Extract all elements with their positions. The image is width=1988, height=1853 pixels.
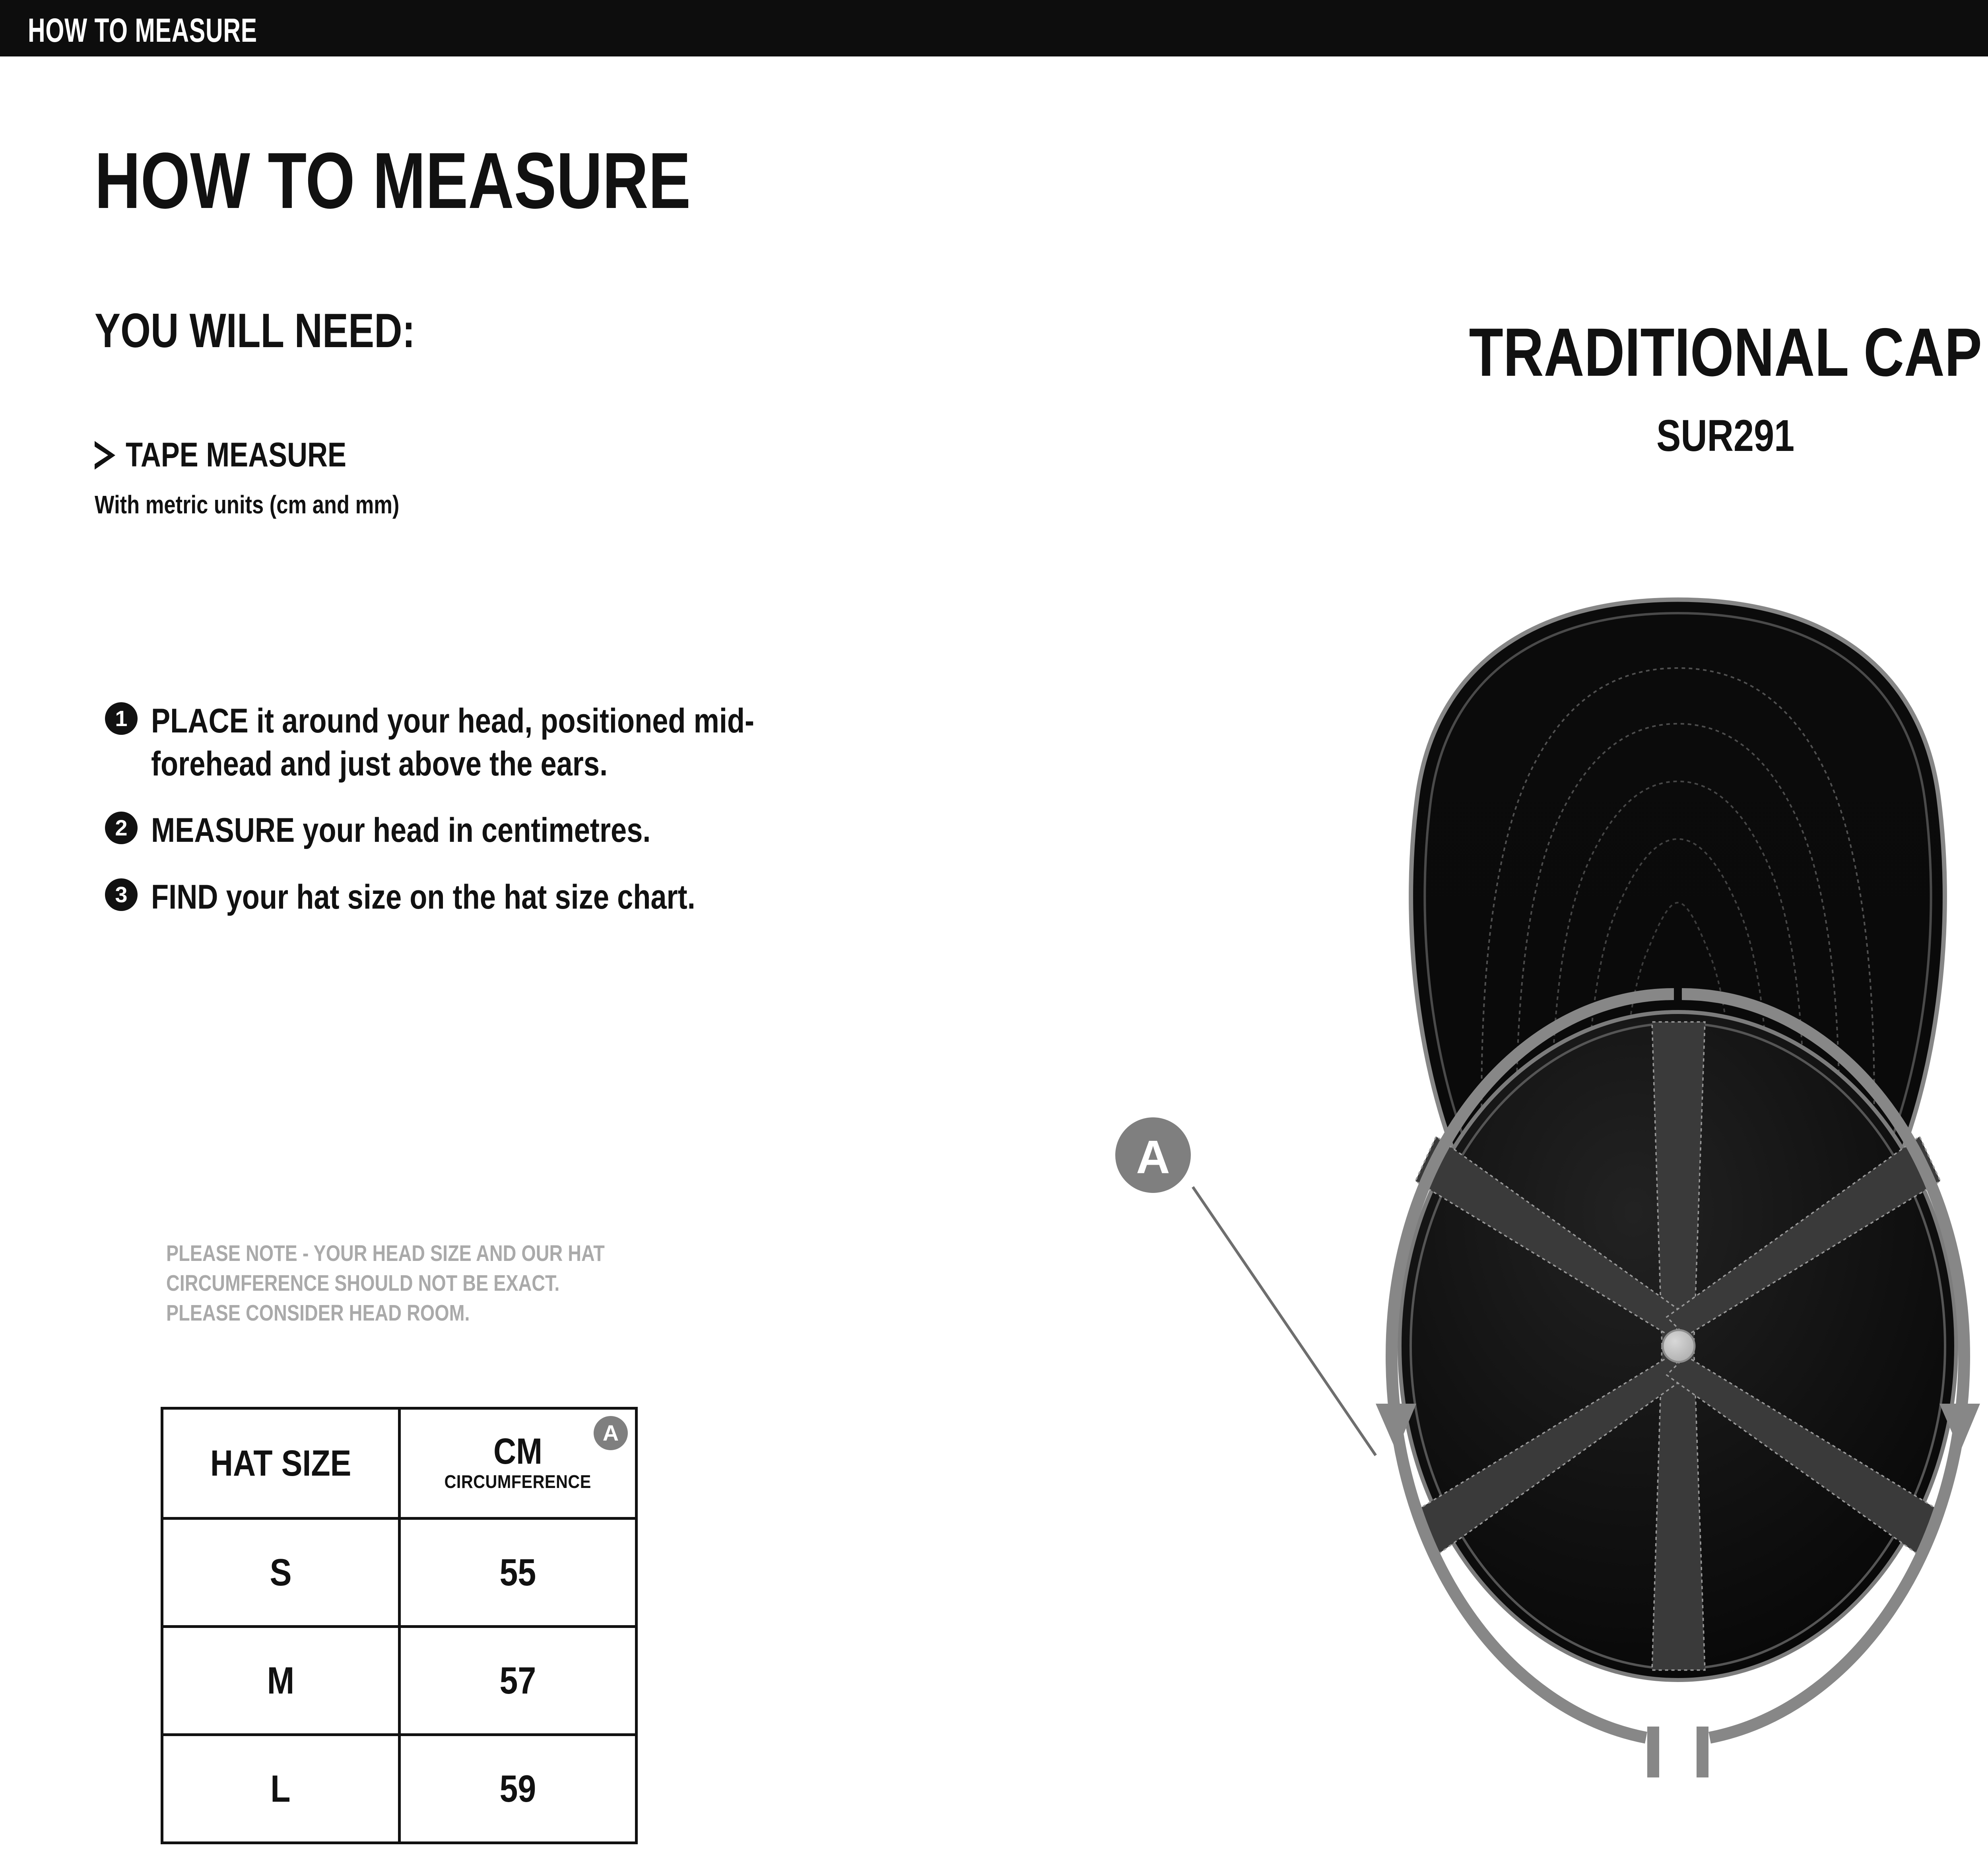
- how-to-measure-page: HOW TO MEASURE SURRIDGE HOW TO MEASURE Y…: [0, 0, 1988, 1853]
- cell-cm-value: 55: [499, 1551, 536, 1595]
- table-row: M 57: [162, 1627, 637, 1735]
- cell-cm-value: 57: [499, 1659, 536, 1703]
- requirement-row: TAPE MEASURE: [95, 435, 395, 475]
- table-header-row: HAT SIZE A CM CIRCUMFERENCE: [162, 1408, 637, 1519]
- product-code: SUR291: [1229, 414, 1988, 458]
- step-text: MEASURE your head in centimetres.: [151, 809, 854, 852]
- cell-hat-size-value: L: [271, 1767, 291, 1811]
- page-title: HOW TO MEASURE: [95, 141, 691, 221]
- note-line-2: CIRCUMFERENCE SHOULD NOT BE EXACT.: [166, 1268, 605, 1298]
- cell-hat-size-value: M: [267, 1659, 294, 1703]
- table-row: S 55: [162, 1519, 637, 1627]
- table-header-cm-label: CM: [493, 1434, 542, 1469]
- cell-hat-size: L: [162, 1735, 400, 1843]
- cell-cm: 55: [399, 1519, 637, 1627]
- cell-hat-size-value: S: [270, 1551, 291, 1595]
- step-number-badge: 1: [105, 702, 138, 735]
- table-row: L 59: [162, 1735, 637, 1843]
- steps-list: 1 PLACE it around your head, positioned …: [99, 700, 855, 942]
- step-text: PLACE it around your head, positioned mi…: [151, 700, 854, 785]
- callout-badge-a-table: A: [594, 1416, 628, 1450]
- step-item: 1 PLACE it around your head, positioned …: [99, 700, 855, 785]
- disclaimer-note: PLEASE NOTE - YOUR HEAD SIZE AND OUR HAT…: [166, 1239, 605, 1329]
- cell-cm: 57: [399, 1627, 637, 1735]
- callout-leader-line: [1193, 1187, 1376, 1455]
- step-number-badge: 2: [105, 812, 138, 844]
- triangle-right-icon: [95, 441, 115, 470]
- size-table: HAT SIZE A CM CIRCUMFERENCE S 55 M 57 L …: [161, 1407, 638, 1844]
- cell-cm-value: 59: [499, 1767, 536, 1811]
- step-text: FIND your hat size on the hat size chart…: [151, 876, 854, 919]
- product-name: TRADITIONAL CAP: [1229, 318, 1988, 387]
- measurement-end-ticks: [1653, 1727, 1703, 1777]
- table-header-cm: A CM CIRCUMFERENCE: [399, 1408, 637, 1519]
- cap-crown: [1400, 1012, 1956, 1680]
- step-item: 2 MEASURE your head in centimetres.: [99, 809, 855, 852]
- header-title: HOW TO MEASURE: [28, 11, 257, 50]
- note-line-3: PLEASE CONSIDER HEAD ROOM.: [166, 1298, 605, 1328]
- requirement-sub-label: With metric units (cm and mm): [95, 490, 399, 519]
- top-header-bar: HOW TO MEASURE SURRIDGE: [0, 0, 1988, 56]
- callout-a: A: [1115, 1117, 1376, 1455]
- table-header-hat-size-label: HAT SIZE: [210, 1443, 351, 1484]
- cap-centre-button: [1663, 1330, 1695, 1362]
- table-header-hat-size: HAT SIZE: [162, 1408, 400, 1519]
- callout-badge-a-label: A: [1136, 1131, 1170, 1183]
- cell-hat-size: M: [162, 1627, 400, 1735]
- hat-size-chart: HAT SIZE A CM CIRCUMFERENCE S 55 M 57 L …: [161, 1407, 638, 1844]
- cell-hat-size: S: [162, 1519, 400, 1627]
- requirement-label: TAPE MEASURE: [126, 435, 346, 475]
- note-line-1: PLEASE NOTE - YOUR HEAD SIZE AND OUR HAT: [166, 1239, 605, 1268]
- you-will-need-heading: YOU WILL NEED:: [95, 306, 415, 355]
- step-number-badge: 3: [105, 878, 138, 911]
- cap-diagram: A: [1074, 589, 1988, 1853]
- step-item: 3 FIND your hat size on the hat size cha…: [99, 876, 855, 919]
- cell-cm: 59: [399, 1735, 637, 1843]
- table-header-circumference-label: CIRCUMFERENCE: [445, 1471, 591, 1492]
